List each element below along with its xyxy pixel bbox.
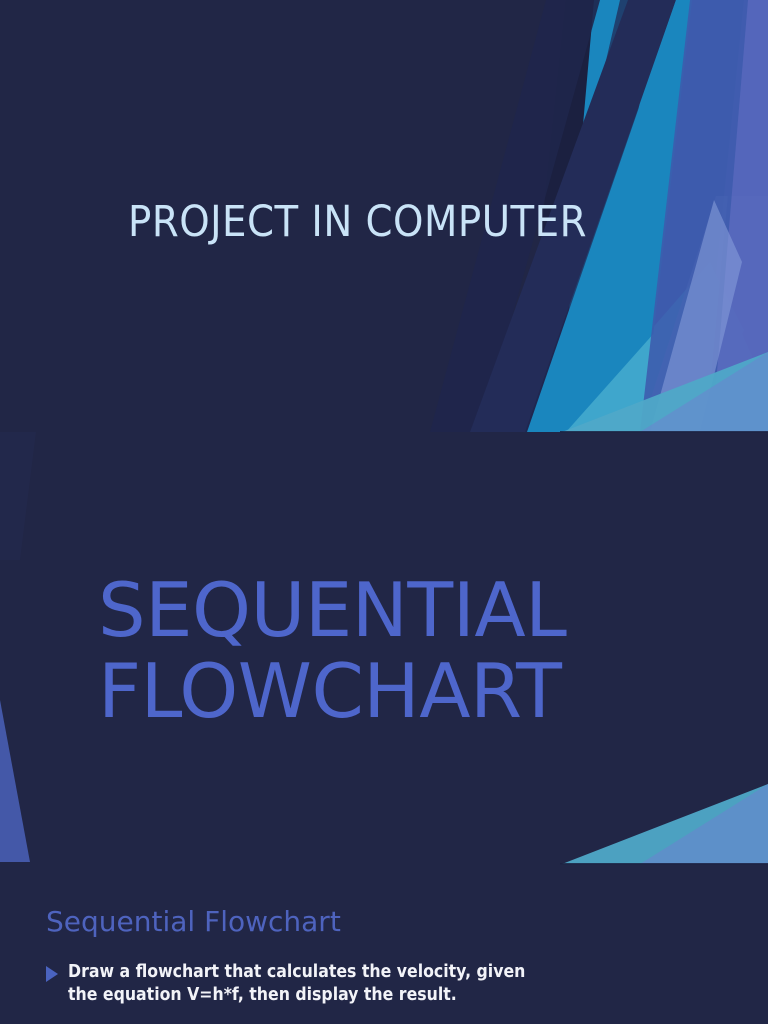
presentation-slide: PROJECT IN COMPUTER SEQUENTIAL FLOWCHART…	[0, 0, 768, 1024]
slide-main-title: SEQUENTIAL FLOWCHART	[98, 570, 568, 732]
slide-kicker-title: PROJECT IN COMPUTER	[128, 200, 598, 245]
slide-content: PROJECT IN COMPUTER SEQUENTIAL FLOWCHART…	[0, 0, 768, 1024]
notes-bullet-item: Draw a flowchart that calculates the vel…	[46, 961, 616, 1007]
notes-bullet-text: Draw a flowchart that calculates the vel…	[68, 961, 558, 1007]
slide-notes-block: Sequential Flowchart Draw a flowchart th…	[46, 905, 616, 1007]
triangle-bullet-icon	[46, 966, 58, 982]
notes-heading: Sequential Flowchart	[46, 905, 616, 939]
